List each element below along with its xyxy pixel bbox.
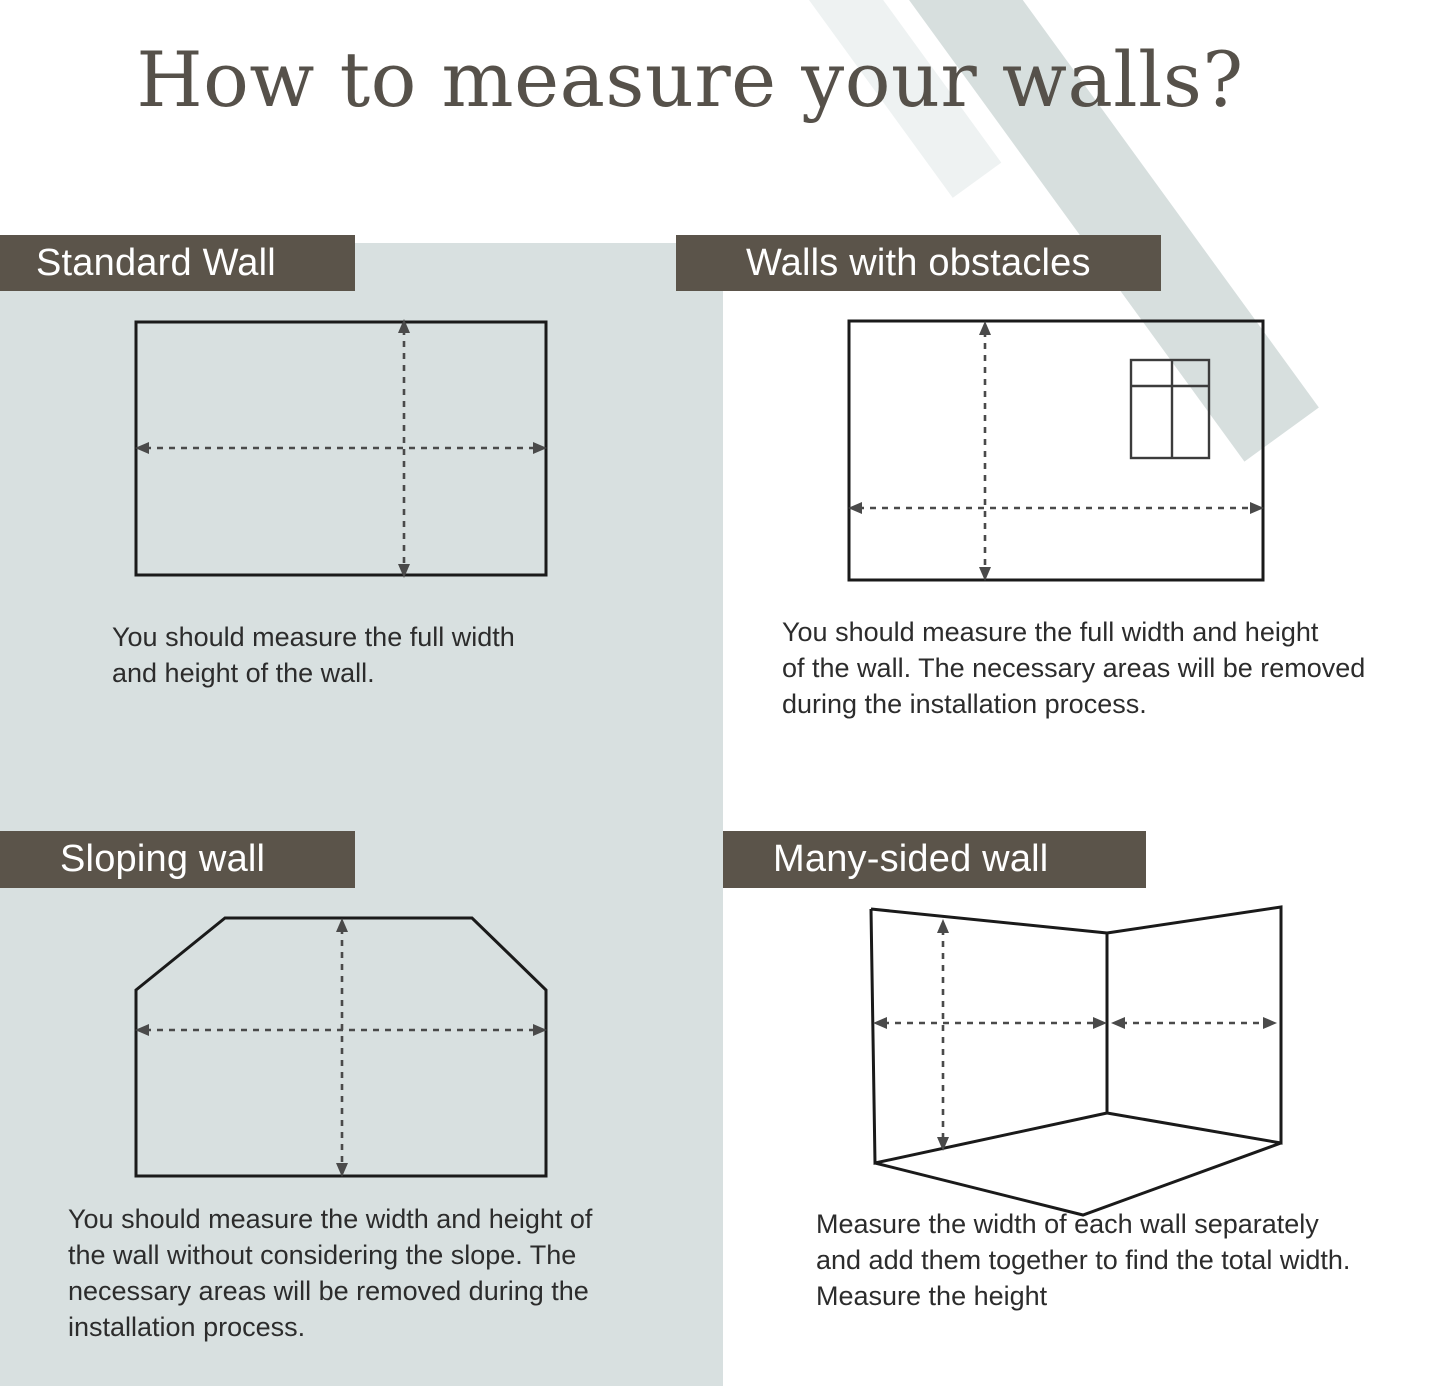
infographic-page: How to measure your walls? Standard Wall… [0, 0, 1445, 1386]
walls-with-obstacles-diagram [835, 305, 1295, 595]
caption-standard-wall: You should measure the full width and he… [112, 620, 632, 692]
sloping-wall-diagram [120, 900, 580, 1190]
section-header-sloping-wall: Sloping wall [0, 831, 355, 888]
many-sided-wall-diagram [845, 895, 1315, 1225]
window-icon [1131, 360, 1209, 458]
page-title: How to measure your walls? [0, 35, 1380, 124]
section-header-standard-wall: Standard Wall [0, 235, 355, 291]
section-header-walls-with-obstacles: Walls with obstacles [676, 235, 1161, 291]
section-header-label: Standard Wall [36, 242, 276, 285]
section-header-many-sided-wall: Many-sided wall [723, 831, 1146, 888]
section-header-label: Walls with obstacles [746, 242, 1091, 285]
caption-sloping-wall: You should measure the width and height … [68, 1202, 668, 1346]
caption-walls-with-obstacles: You should measure the full width and he… [782, 615, 1422, 723]
standard-wall-diagram [120, 305, 580, 595]
caption-many-sided-wall: Measure the width of each wall separatel… [816, 1207, 1426, 1315]
section-header-label: Sloping wall [60, 838, 265, 881]
section-header-label: Many-sided wall [773, 838, 1048, 881]
